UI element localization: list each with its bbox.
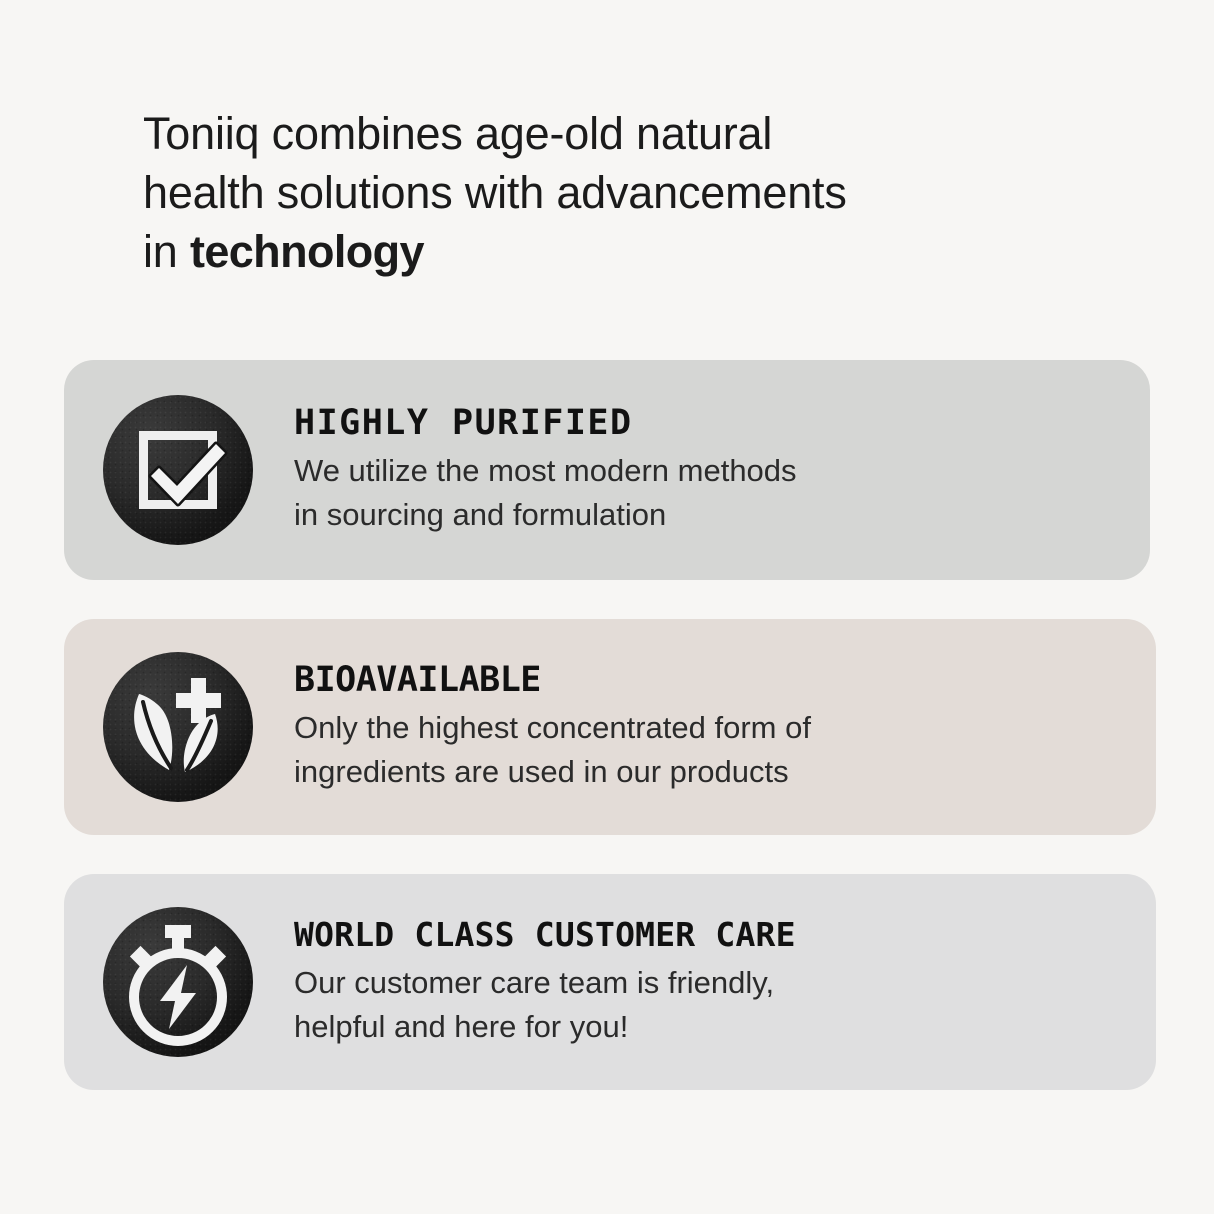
headline-line-2: health solutions with advancements xyxy=(143,163,1043,222)
card-text-block: HIGHLY PURIFIED We utilize the most mode… xyxy=(294,403,1150,537)
card-description-line-2: helpful and here for you! xyxy=(294,1005,1132,1049)
feature-card-list: HIGHLY PURIFIED We utilize the most mode… xyxy=(64,360,1156,1129)
icon-disc xyxy=(103,907,253,1057)
card-title: WORLD CLASS CUSTOMER CARE xyxy=(294,915,1132,955)
feature-card-highly-purified: HIGHLY PURIFIED We utilize the most mode… xyxy=(64,360,1150,580)
card-description: We utilize the most modern methods in so… xyxy=(294,449,1126,537)
headline-line-1: Toniiq combines age-old natural xyxy=(143,104,1043,163)
card-text-block: WORLD CLASS CUSTOMER CARE Our customer c… xyxy=(294,915,1156,1049)
leaf-plus-icon xyxy=(103,652,253,802)
card-description-line-2: ingredients are used in our products xyxy=(294,750,1132,794)
card-description-line-1: Our customer care team is friendly, xyxy=(294,961,1132,1005)
headline-line-3: in technology xyxy=(143,222,1043,281)
card-text-block: BIOAVAILABLE Only the highest concentrat… xyxy=(294,660,1156,794)
card-description-line-2: in sourcing and formulation xyxy=(294,493,1126,537)
stopwatch-bolt-icon xyxy=(103,907,253,1057)
feature-card-customer-care: WORLD CLASS CUSTOMER CARE Our customer c… xyxy=(64,874,1156,1090)
feature-card-bioavailable: BIOAVAILABLE Only the highest concentrat… xyxy=(64,619,1156,835)
card-description: Only the highest concentrated form of in… xyxy=(294,706,1132,794)
headline-emphasis: technology xyxy=(190,226,424,277)
card-description-line-1: Only the highest concentrated form of xyxy=(294,706,1132,750)
icon-disc xyxy=(103,652,253,802)
card-description-line-1: We utilize the most modern methods xyxy=(294,449,1126,493)
page-headline: Toniiq combines age-old natural health s… xyxy=(143,104,1043,281)
card-title: BIOAVAILABLE xyxy=(294,660,1132,700)
infographic-page: Toniiq combines age-old natural health s… xyxy=(0,0,1214,1214)
card-description: Our customer care team is friendly, help… xyxy=(294,961,1132,1049)
headline-line-3-prefix: in xyxy=(143,226,190,277)
checkbox-checked-icon xyxy=(103,395,253,545)
card-title: HIGHLY PURIFIED xyxy=(294,403,1126,443)
icon-disc xyxy=(103,395,253,545)
